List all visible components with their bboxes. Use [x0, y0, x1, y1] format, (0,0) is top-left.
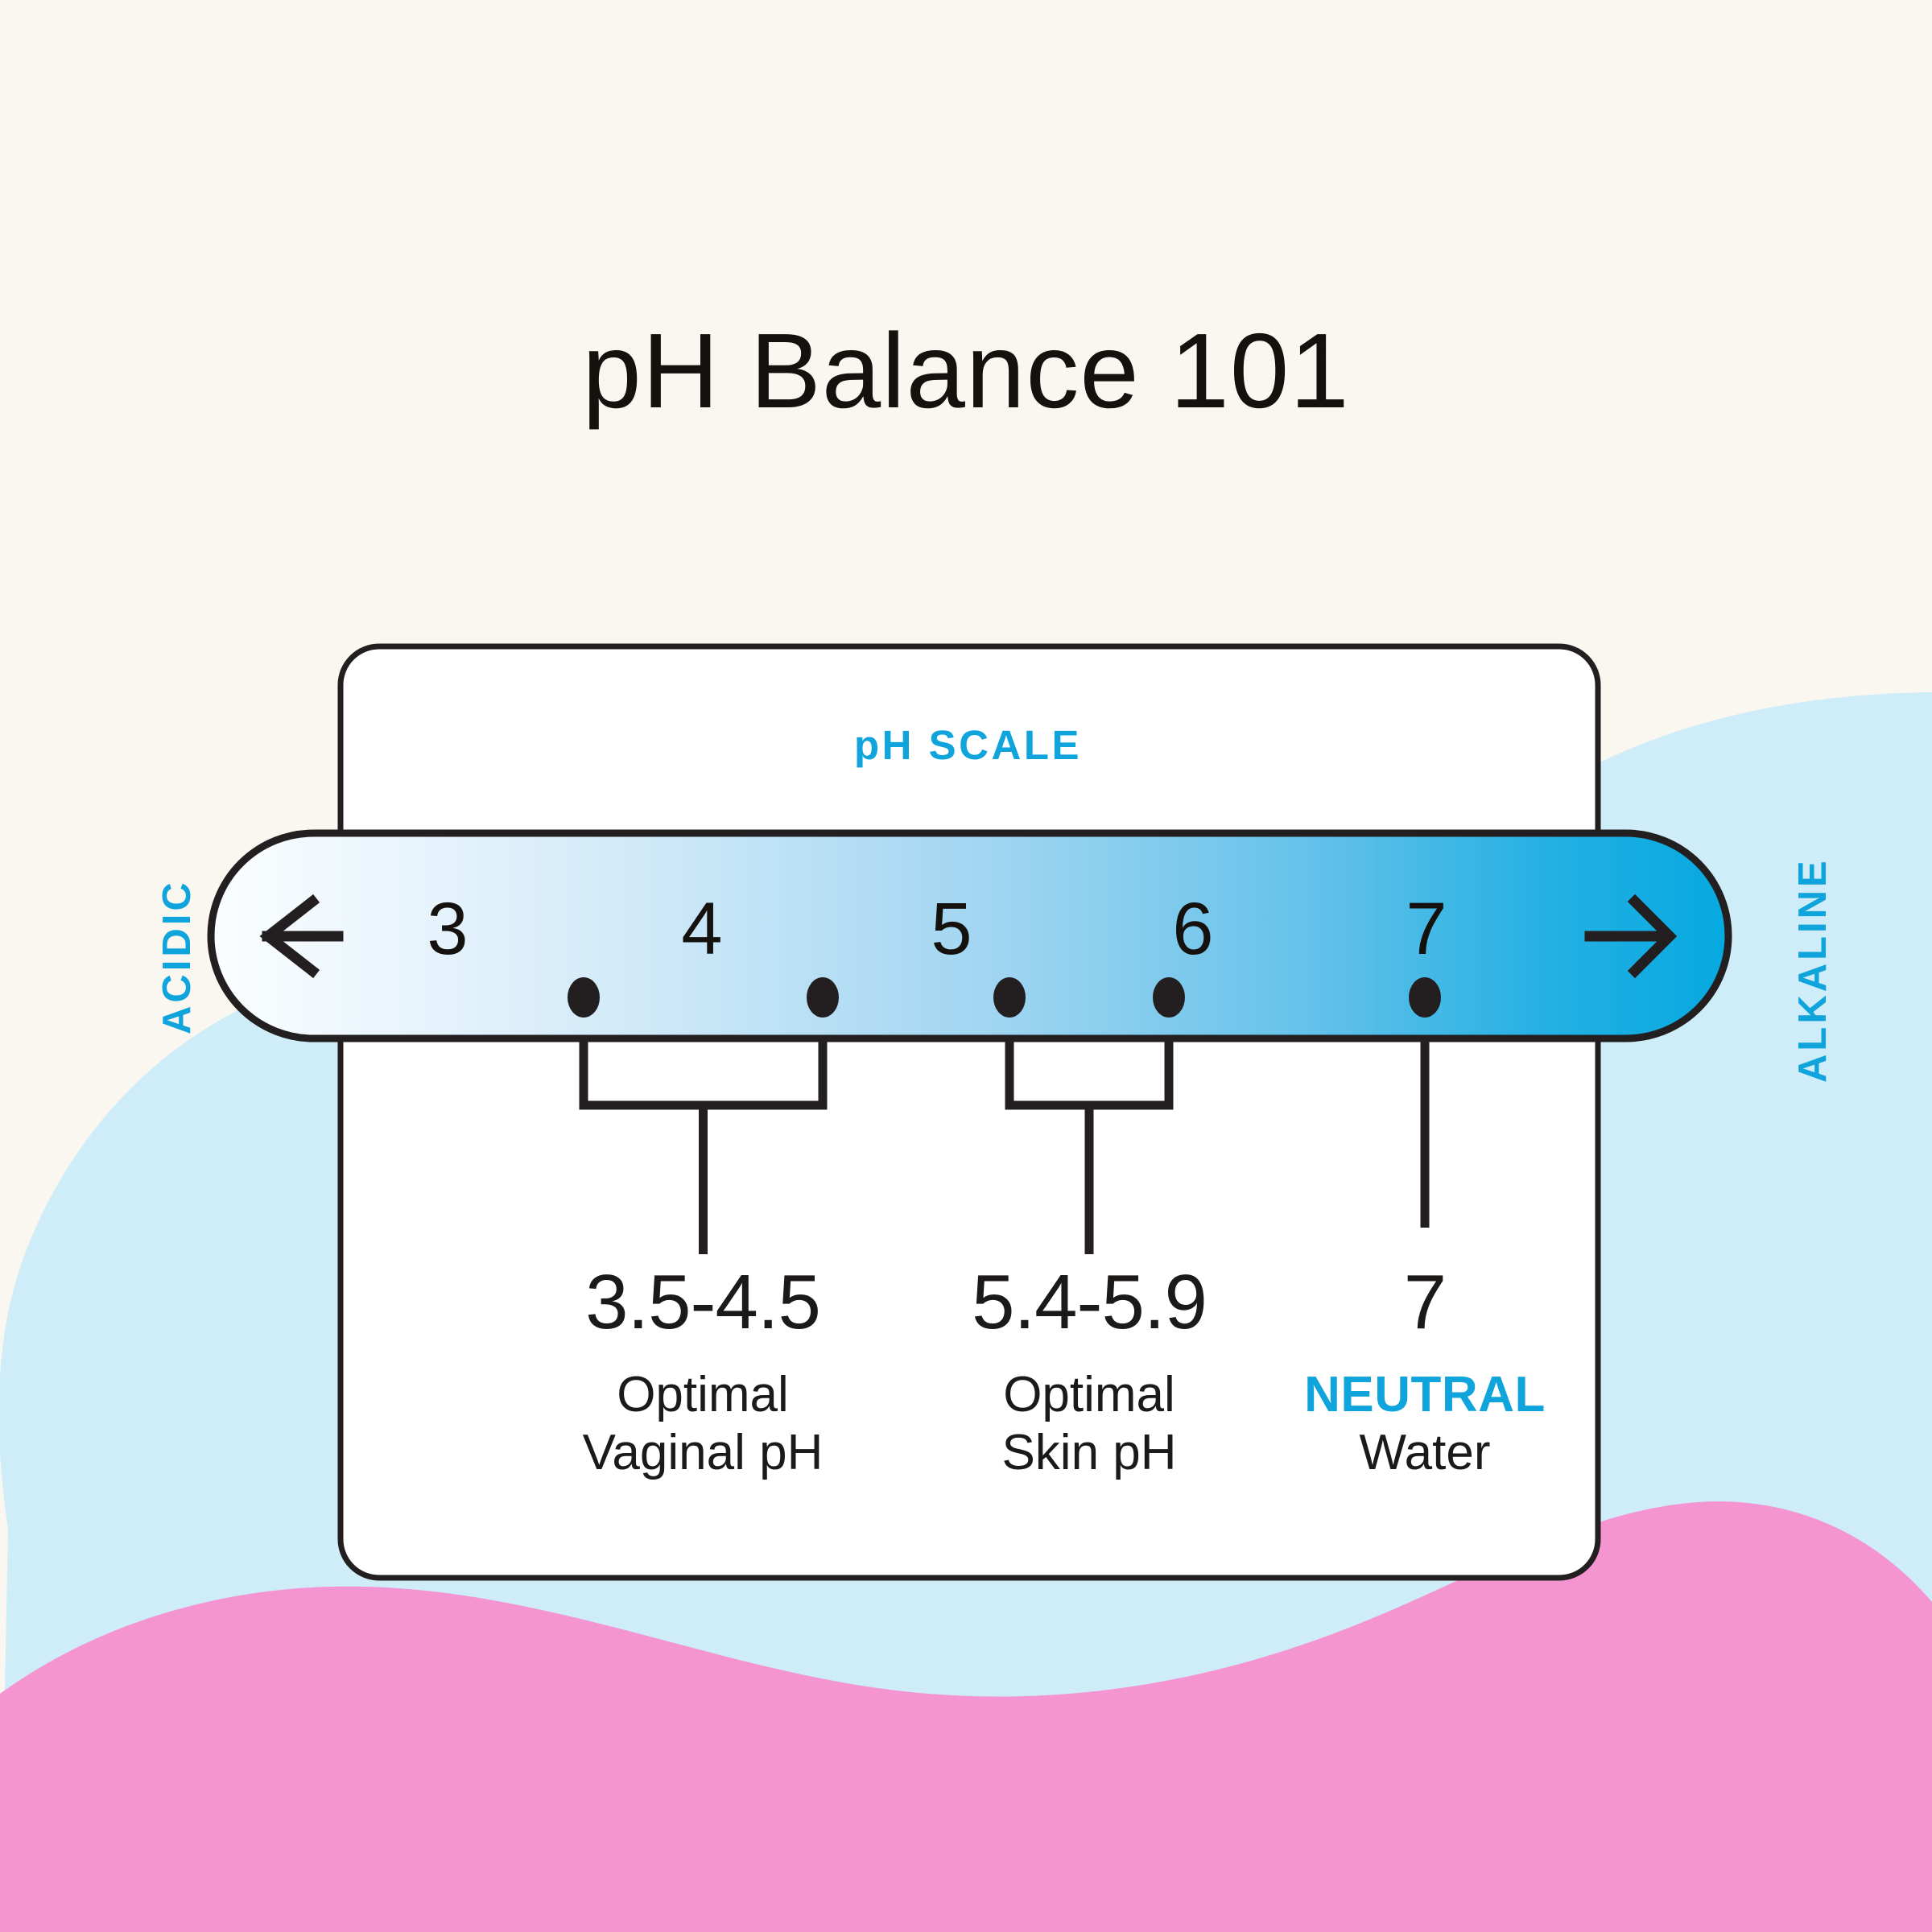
ph-tick-5: 5: [903, 892, 1000, 966]
marker-range-vaginal-ph: 3.5-4.5: [493, 1262, 912, 1344]
dot-7: [1409, 977, 1441, 1018]
axis-label-alkaline: ALKALINE: [1794, 857, 1833, 1083]
marker-desc-vaginal-ph-line1: Optimal: [493, 1366, 912, 1425]
dot-5-4: [993, 977, 1026, 1018]
ph-tick-6: 6: [1145, 892, 1241, 966]
marker-group-neutral-water: 7 NEUTRAL Water: [1216, 1262, 1634, 1483]
ph-tick-7: 7: [1378, 892, 1475, 966]
infographic-canvas: pH Balance 101 pH SCALE: [0, 0, 1932, 1932]
marker-desc-vaginal-ph-line2: Vaginal pH: [493, 1424, 912, 1483]
ph-tick-3: 3: [399, 892, 496, 966]
marker-desc-neutral-water: Water: [1216, 1424, 1634, 1483]
dot-5-9: [1153, 977, 1185, 1018]
marker-range-neutral-water: 7: [1216, 1262, 1634, 1344]
marker-badge-neutral: NEUTRAL: [1216, 1366, 1634, 1425]
axis-label-acidic: ACIDIC: [158, 879, 197, 1034]
marker-group-vaginal-ph: 3.5-4.5 Optimal Vaginal pH: [493, 1262, 912, 1483]
dot-3-5: [568, 977, 600, 1018]
ph-tick-4: 4: [654, 892, 750, 966]
dot-4-5: [807, 977, 839, 1018]
